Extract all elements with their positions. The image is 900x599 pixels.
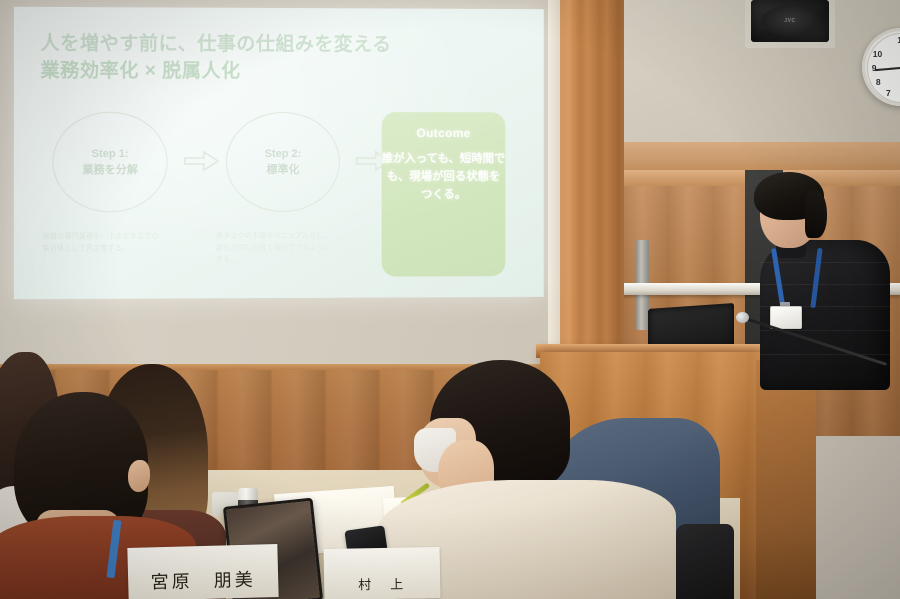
name-card-label: 宮原 朋美 xyxy=(128,565,279,595)
clock-number-10: 10 xyxy=(873,49,882,59)
step-1-title: 業務を分解 xyxy=(82,162,138,179)
outcome-text: 誰が入っても、短時間でも、現場が回る状態をつくる。 xyxy=(382,150,506,204)
podium-side-panel xyxy=(756,360,816,599)
slide-title: 人を増やす前に、仕事の仕組みを変える 業務効率化 × 脱属人化 xyxy=(40,31,470,86)
step-1-caption: 複雑な専門業務を、小さなタスクの集合体として再定義する。 xyxy=(42,230,161,254)
name-card-label: 村 上 xyxy=(324,573,440,594)
wall-speaker: JVC xyxy=(751,0,829,42)
slide-title-line2: 業務効率化 × 脱属人化 xyxy=(40,58,470,86)
presenter-id-badge xyxy=(770,306,802,329)
outcome-box: Outcome 誰が入っても、短時間でも、現場が回る状態をつくる。 xyxy=(382,112,506,276)
step-2-circle: Step 2: 標準化 xyxy=(226,112,340,212)
step-2-title: 標準化 xyxy=(266,162,299,179)
microphone-head-icon xyxy=(736,312,749,323)
step-2-label: Step 2: xyxy=(265,145,302,162)
step-2-caption: 各タスクの手順をマニュアル化し、誰もが同じ品質で実行できるようにする。 xyxy=(216,230,334,265)
name-card: 村 上 xyxy=(324,547,441,599)
clock-minute-hand xyxy=(875,67,900,71)
step-1-circle: Step 1: 業務を分解 xyxy=(52,112,167,213)
speaker-brand-label: JVC xyxy=(784,18,796,24)
clock-number-8: 8 xyxy=(876,77,881,87)
attendee-front-left-ear xyxy=(128,460,150,492)
slide-title-line1: 人を増やす前に、仕事の仕組みを変える xyxy=(40,33,391,55)
name-card: 宮原 朋美 xyxy=(127,544,278,599)
chair-back xyxy=(676,524,734,599)
outcome-label: Outcome xyxy=(416,126,470,140)
presenter-hair-side xyxy=(805,190,827,238)
clock-number-7: 7 xyxy=(886,88,891,98)
presentation-room-photo: JVC 12 11 10 9 8 7 人を増やす前に、仕事の仕組みを変える 業務… xyxy=(0,0,900,599)
clock-face: 12 11 10 9 8 7 xyxy=(867,33,900,103)
arrow-1-icon xyxy=(184,150,220,172)
projected-slide: 人を増やす前に、仕事の仕組みを変える 業務効率化 × 脱属人化 Step 1: … xyxy=(14,7,544,299)
step-1-label: Step 1: xyxy=(92,145,129,162)
clock-number-9: 9 xyxy=(872,63,877,73)
